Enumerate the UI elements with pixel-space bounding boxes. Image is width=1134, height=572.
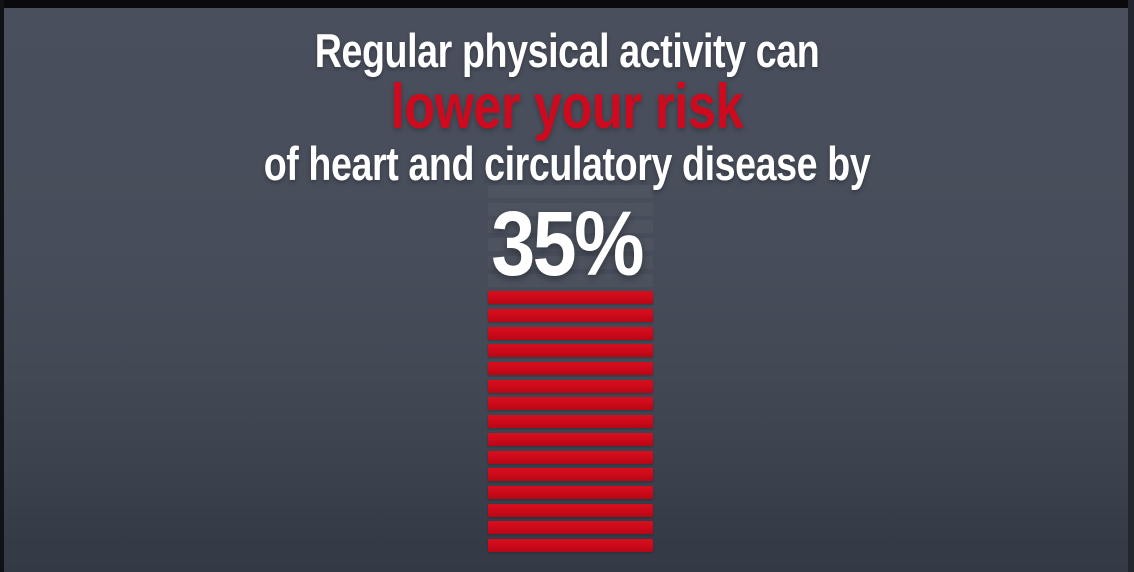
- headline-line-1: Regular physical activity can: [113, 26, 1020, 76]
- bar-segment-filled: [488, 362, 653, 375]
- bar-segment-filled: [488, 327, 653, 340]
- headline-block: Regular physical activity can lower your…: [0, 26, 1134, 189]
- bar-segment-empty: [488, 274, 653, 287]
- bar-segment-filled: [488, 468, 653, 481]
- bar-segment-filled: [488, 397, 653, 410]
- bar-segment-filled: [488, 291, 653, 304]
- bar-segment-filled: [488, 380, 653, 393]
- bar-segment-filled: [488, 539, 653, 552]
- video-frame: Regular physical activity can lower your…: [0, 0, 1134, 572]
- bar-segment-filled: [488, 486, 653, 499]
- bar-segment-empty: [488, 256, 653, 269]
- headline-line-3: of heart and circulatory disease by: [113, 139, 1020, 189]
- bar-segment-filled: [488, 415, 653, 428]
- bar-segment-filled: [488, 451, 653, 464]
- risk-reduction-bar-chart: [488, 185, 653, 561]
- frame-right-edge: [1128, 0, 1134, 572]
- bar-segment-empty: [488, 238, 653, 251]
- bar-segment-empty: [488, 220, 653, 233]
- bar-segment-filled: [488, 344, 653, 357]
- frame-left-edge: [0, 0, 4, 572]
- infographic-slide: Regular physical activity can lower your…: [0, 8, 1134, 572]
- headline-line-2-emphasis: lower your risk: [113, 74, 1020, 140]
- bar-segment-empty: [488, 203, 653, 216]
- bar-segment-filled: [488, 433, 653, 446]
- bar-segment-filled: [488, 504, 653, 517]
- bar-segment-filled: [488, 521, 653, 534]
- bar-segment-filled: [488, 309, 653, 322]
- letterbox-top-bar: [0, 0, 1134, 8]
